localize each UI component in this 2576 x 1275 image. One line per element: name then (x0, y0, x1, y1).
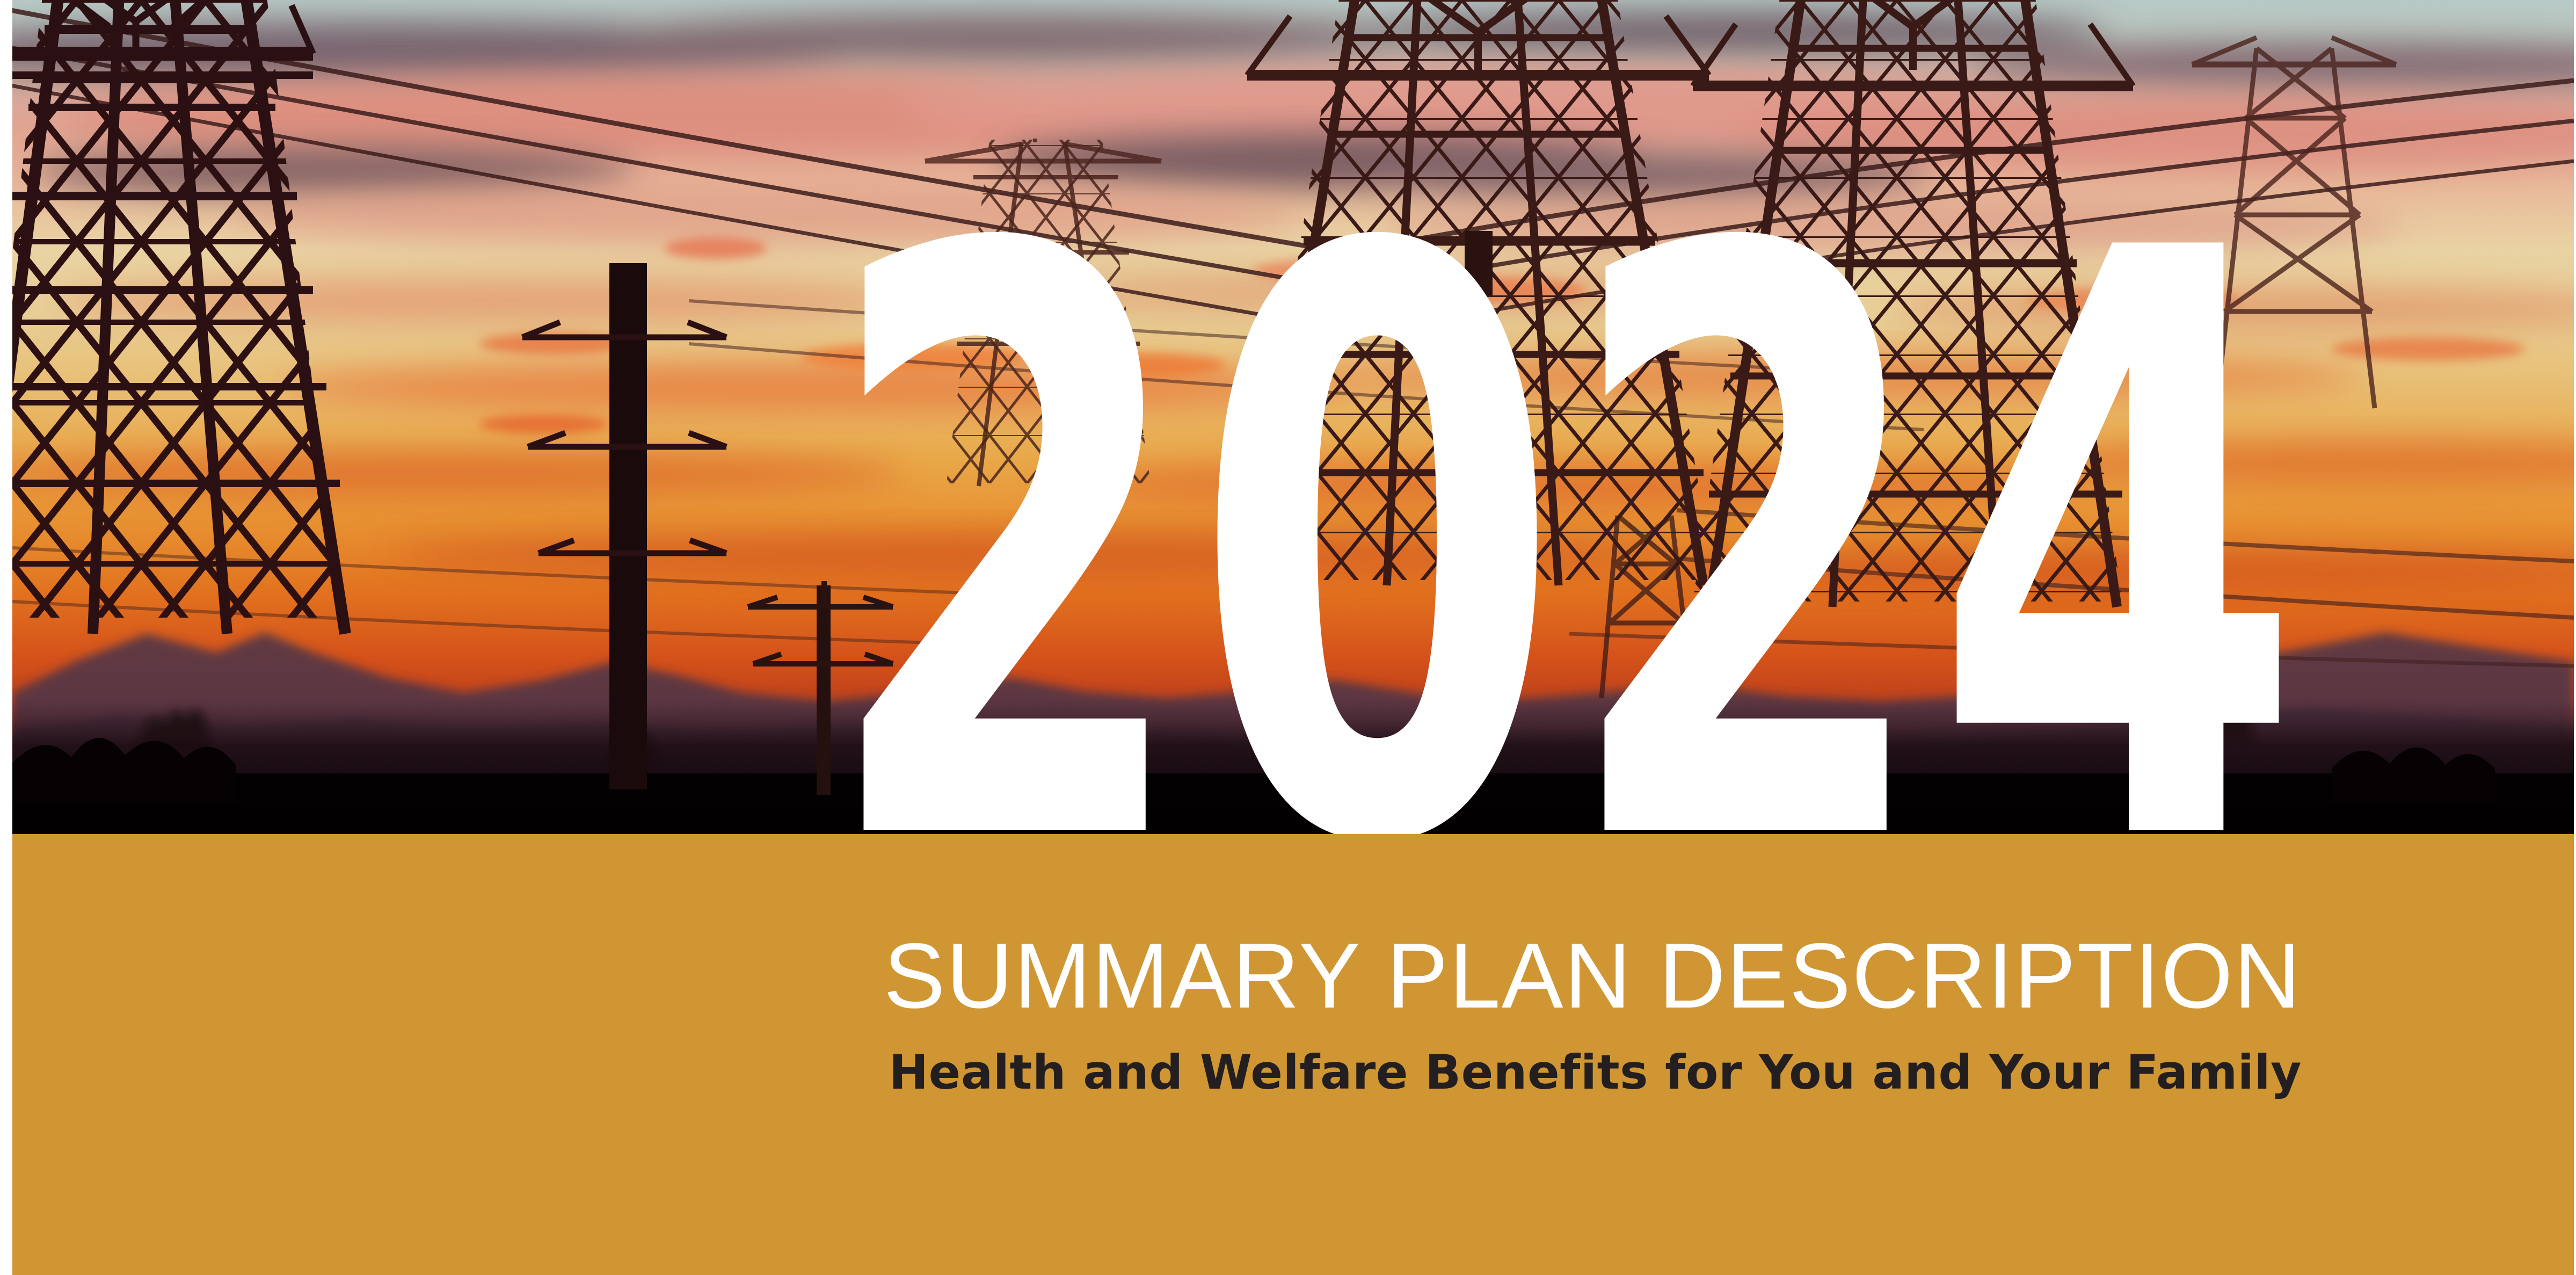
sunset-powerline-photo (12, 0, 2574, 834)
cover-page: 2024 SUMMARY PLAN DESCRIPTION Health and… (0, 0, 2576, 1275)
page-title: SUMMARY PLAN DESCRIPTION (0, 930, 2302, 1022)
page-subtitle: Health and Welfare Benefits for You and … (0, 1049, 2302, 1096)
title-block: SUMMARY PLAN DESCRIPTION Health and Welf… (0, 834, 2562, 1275)
